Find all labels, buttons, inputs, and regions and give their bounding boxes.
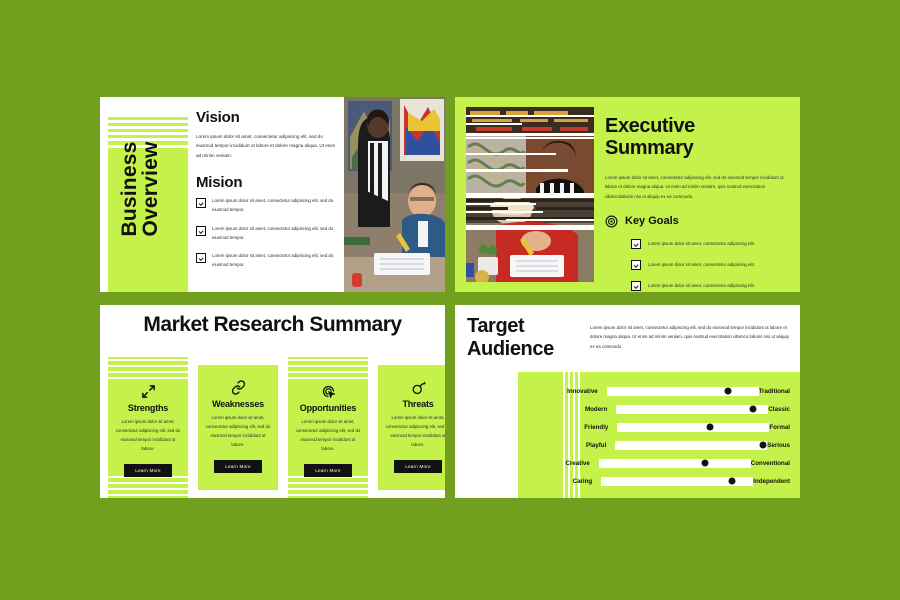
slider-track[interactable] xyxy=(607,387,759,396)
list-item: Lorem ipsum dolor sit amet, consectetur … xyxy=(196,197,336,215)
expand-arrows-icon xyxy=(115,383,181,399)
list-item-label: Lorem ipsum dolor sit amet, consectetur … xyxy=(648,261,755,268)
slide4-header: Target Audience Lorem ipsum dolor sit am… xyxy=(455,305,800,372)
learn-more-button[interactable]: Learn More xyxy=(214,460,262,473)
slide-business-overview[interactable]: Business Overview Vision Lorem ipsum dol… xyxy=(100,97,445,292)
slide-target-audience[interactable]: Target Audience Lorem ipsum dolor sit am… xyxy=(455,305,800,498)
glitch-stripe xyxy=(466,225,594,228)
slider-row: Innovative Traditional xyxy=(518,382,800,400)
glitch-stripe xyxy=(466,115,594,117)
swot-card-opportunities[interactable]: Opportunities Lorem ipsum dolor sit amet… xyxy=(288,357,368,498)
slider-left-label: Caring xyxy=(518,478,601,485)
mision-heading: Mision xyxy=(196,174,336,191)
market-research-title: Market Research Summary xyxy=(100,313,445,337)
key-goals-label: Key Goals xyxy=(625,215,679,227)
list-item: Lorem ipsum dolor sit amet, consectetur … xyxy=(196,252,336,270)
mision-list: Lorem ipsum dolor sit amet, consectetur … xyxy=(196,197,336,270)
slider-thumb[interactable] xyxy=(750,406,757,413)
slide-deck-preview: Business Overview Vision Lorem ipsum dol… xyxy=(0,0,900,600)
slide-executive-summary[interactable]: Executive Summary Lorem ipsum dolor sit … xyxy=(455,97,800,292)
target-cursor-icon xyxy=(295,383,361,399)
swot-card-strengths[interactable]: Strengths Lorem ipsum dolor sit amet, co… xyxy=(108,357,188,498)
slide1-content: Vision Lorem ipsum dolor sit amet, conse… xyxy=(196,109,336,280)
executive-summary-title: Executive Summary xyxy=(605,115,787,159)
slider-row: Modern Classic xyxy=(518,400,800,418)
slider-row: Caring Independent xyxy=(518,472,800,490)
slider-right-label: Independent xyxy=(753,478,800,485)
photo-illustration xyxy=(344,97,445,292)
slider-thumb[interactable] xyxy=(759,442,766,449)
slider-track[interactable] xyxy=(615,441,767,450)
swot-card-body: Opportunities Lorem ipsum dolor sit amet… xyxy=(288,383,368,477)
slider-track[interactable] xyxy=(601,477,753,486)
bomb-icon xyxy=(385,379,445,395)
swot-card-title: Opportunities xyxy=(295,403,361,413)
stripe-decoration xyxy=(108,476,188,498)
stripe-decoration xyxy=(108,357,188,379)
slide1-vertical-title: Business Overview xyxy=(100,109,180,269)
slider-row: Friendly Formal xyxy=(518,418,800,436)
slider-right-label: Traditional xyxy=(759,388,800,395)
swot-card-title: Threats xyxy=(385,399,445,409)
glitch-stripe xyxy=(466,133,594,136)
slider-list: Innovative Traditional Modern Classic Fr… xyxy=(518,382,800,490)
vision-paragraph: Lorem ipsum dolor sit amet, consectetur … xyxy=(196,132,336,160)
link-icon xyxy=(205,379,271,395)
slider-thumb[interactable] xyxy=(725,388,732,395)
key-goals-header: Key Goals xyxy=(605,215,787,228)
swot-card-body: Weaknesses Lorem ipsum dolor sit amet, c… xyxy=(198,379,278,473)
glitch-stripe xyxy=(466,169,568,172)
list-item: Lorem ipsum dolor sit amet, consectetur … xyxy=(196,225,336,243)
slider-left-label: Creative xyxy=(518,460,599,467)
slider-row: Playful Serious xyxy=(518,436,800,454)
list-item-label: Lorem ipsum dolor sit amet, consectetur … xyxy=(212,252,336,270)
slider-track[interactable] xyxy=(616,405,768,414)
swot-card-body: Strengths Lorem ipsum dolor sit amet, co… xyxy=(108,383,188,477)
slider-track[interactable] xyxy=(599,459,751,468)
slider-track[interactable] xyxy=(617,423,769,432)
slider-row: Creative Conventional xyxy=(518,454,800,472)
swot-card-text: Lorem ipsum dolor sit amet, consectetur … xyxy=(115,417,181,453)
slide1-left-column: Business Overview xyxy=(100,97,188,292)
key-goals-list: Lorem ipsum dolor sit amet, consectetur … xyxy=(605,238,787,291)
slider-left-label: Innovative xyxy=(518,388,607,395)
slide2-content: Executive Summary Lorem ipsum dolor sit … xyxy=(605,115,787,292)
vision-heading: Vision xyxy=(196,109,336,126)
checkbox-icon[interactable] xyxy=(631,260,641,270)
slider-right-label: Conventional xyxy=(751,460,800,467)
slide1-photo xyxy=(344,97,445,292)
slider-left-label: Playful xyxy=(518,442,615,449)
list-item: Lorem ipsum dolor sit amet, consectetur … xyxy=(631,259,787,270)
swot-card-weaknesses[interactable]: Weaknesses Lorem ipsum dolor sit amet, c… xyxy=(198,365,278,490)
slider-left-label: Modern xyxy=(518,406,616,413)
glitch-stripe xyxy=(466,211,543,213)
checkbox-icon[interactable] xyxy=(196,198,206,208)
swot-card-title: Strengths xyxy=(115,403,181,413)
swot-card-threats[interactable]: Threats Lorem ipsum dolor sit amet, cons… xyxy=(378,365,445,490)
target-audience-title: Target Audience xyxy=(467,315,554,361)
executive-summary-paragraph: Lorem ipsum dolor sit amet, consectetur … xyxy=(605,173,787,201)
swot-card-title: Weaknesses xyxy=(205,399,271,409)
slide2-photo xyxy=(466,107,594,282)
slider-thumb[interactable] xyxy=(707,424,714,431)
list-item-label: Lorem ipsum dolor sit amet, consectetur … xyxy=(648,282,755,289)
slider-right-label: Classic xyxy=(768,406,800,413)
learn-more-button[interactable]: Learn More xyxy=(394,460,442,473)
slider-right-label: Formal xyxy=(769,424,800,431)
slider-thumb[interactable] xyxy=(728,478,735,485)
swot-card-text: Lorem ipsum dolor sit amet, consectetur … xyxy=(295,417,361,453)
bullseye-icon xyxy=(605,215,618,228)
checkbox-icon[interactable] xyxy=(196,226,206,236)
stripe-decoration xyxy=(288,357,368,379)
list-item-label: Lorem ipsum dolor sit amet, consectetur … xyxy=(212,225,336,243)
slider-left-label: Friendly xyxy=(518,424,617,431)
glitch-stripe xyxy=(466,195,594,198)
list-item: Lorem ipsum dolor sit amet, consectetur … xyxy=(631,238,787,249)
learn-more-button[interactable]: Learn More xyxy=(304,464,352,477)
swot-card-text: Lorem ipsum dolor sit amet, consectetur … xyxy=(385,413,445,449)
slider-thumb[interactable] xyxy=(702,460,709,467)
slide-market-research-summary[interactable]: Market Research Summary Strengt xyxy=(100,305,445,498)
target-audience-paragraph: Lorem ipsum dolor sit amet, consectetur … xyxy=(590,323,790,351)
list-item-label: Lorem ipsum dolor sit amet, consectetur … xyxy=(648,240,755,247)
slider-right-label: Serious xyxy=(767,442,800,449)
list-item-label: Lorem ipsum dolor sit amet, consectetur … xyxy=(212,197,336,215)
swot-card-grid: Strengths Lorem ipsum dolor sit amet, co… xyxy=(100,357,445,498)
list-item: Lorem ipsum dolor sit amet, consectetur … xyxy=(631,280,787,291)
checkbox-icon[interactable] xyxy=(631,239,641,249)
checkbox-icon[interactable] xyxy=(196,253,206,263)
slider-panel: Innovative Traditional Modern Classic Fr… xyxy=(518,372,800,498)
stripe-decoration xyxy=(288,476,368,498)
swot-card-body: Threats Lorem ipsum dolor sit amet, cons… xyxy=(378,379,445,473)
checkbox-icon[interactable] xyxy=(631,281,641,291)
learn-more-button[interactable]: Learn More xyxy=(124,464,172,477)
slide1-vertical-title-text: Business Overview xyxy=(119,142,162,237)
swot-card-text: Lorem ipsum dolor sit amet, consectetur … xyxy=(205,413,271,449)
